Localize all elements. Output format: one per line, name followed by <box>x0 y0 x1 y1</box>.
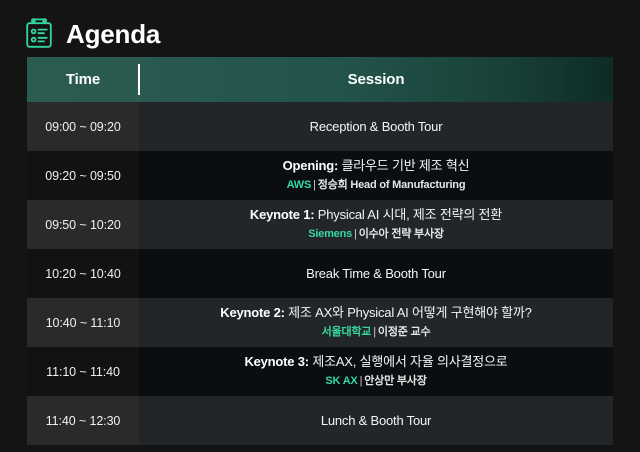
session-title: Lunch & Booth Tour <box>149 412 603 430</box>
agenda-table-container: Time Session 09:00 ~ 09:20Reception & Bo… <box>27 57 613 445</box>
cell-time: 09:00 ~ 09:20 <box>27 102 139 151</box>
session-title: Keynote 1: Physical AI 시대, 제조 전략의 전환 <box>149 206 603 224</box>
cell-session: Keynote 3: 제조AX, 실행에서 자율 의사결정으로SK AX|안상만… <box>139 347 613 396</box>
table-row[interactable]: 09:20 ~ 09:50Opening: 클라우드 기반 제조 혁신AWS|정… <box>27 151 613 200</box>
session-speaker-line: Siemens|이수아 전략 부사장 <box>149 226 603 243</box>
session-title: Break Time & Booth Tour <box>149 265 603 283</box>
table-row[interactable]: 10:40 ~ 11:10Keynote 2: 제조 AX와 Physical … <box>27 298 613 347</box>
session-speaker-line: 서울대학교|이정준 교수 <box>149 324 603 341</box>
session-title: Reception & Booth Tour <box>149 118 603 136</box>
session-speaker-line: SK AX|안상만 부사장 <box>149 373 603 390</box>
table-row[interactable]: 10:20 ~ 10:40Break Time & Booth Tour <box>27 249 613 298</box>
column-header-time: Time <box>27 57 139 102</box>
session-separator: | <box>313 179 316 191</box>
session-org: SK AX <box>325 375 357 387</box>
agenda-table-head: Time Session <box>27 57 613 102</box>
table-row[interactable]: 09:00 ~ 09:20Reception & Booth Tour <box>27 102 613 151</box>
header-column-divider <box>138 64 140 95</box>
session-speaker: 정승희 Head of Manufacturing <box>318 179 466 191</box>
session-title-text: Lunch & Booth Tour <box>321 413 431 428</box>
cell-session: Lunch & Booth Tour <box>139 396 613 445</box>
session-title-text: Reception & Booth Tour <box>310 119 443 134</box>
session-org: AWS <box>287 179 311 191</box>
session-title-lead: Keynote 2: <box>220 305 284 320</box>
session-org: 서울대학교 <box>322 326 372 338</box>
agenda-table: Time Session 09:00 ~ 09:20Reception & Bo… <box>27 57 613 445</box>
session-title: Keynote 2: 제조 AX와 Physical AI 어떻게 구현해야 할… <box>149 304 603 322</box>
cell-session: Reception & Booth Tour <box>139 102 613 151</box>
session-org: Siemens <box>308 228 352 240</box>
page-header: Agenda <box>0 0 640 57</box>
session-separator: | <box>373 326 376 338</box>
session-speaker: 이수아 전략 부사장 <box>359 228 444 240</box>
cell-time: 10:20 ~ 10:40 <box>27 249 139 298</box>
column-header-session: Session <box>139 57 613 102</box>
cell-time: 11:10 ~ 11:40 <box>27 347 139 396</box>
session-title-text: 클라우드 기반 제조 혁신 <box>338 158 469 173</box>
cell-session: Break Time & Booth Tour <box>139 249 613 298</box>
cell-time: 09:20 ~ 09:50 <box>27 151 139 200</box>
session-title-text: Physical AI 시대, 제조 전략의 전환 <box>314 207 502 222</box>
cell-time: 10:40 ~ 11:10 <box>27 298 139 347</box>
session-title: Opening: 클라우드 기반 제조 혁신 <box>149 157 603 175</box>
session-separator: | <box>360 375 363 387</box>
session-title-lead: Keynote 1: <box>250 207 314 222</box>
cell-session: Keynote 2: 제조 AX와 Physical AI 어떻게 구현해야 할… <box>139 298 613 347</box>
page-title: Agenda <box>66 21 160 47</box>
column-header-session-label: Session <box>348 71 405 88</box>
session-speaker: 이정준 교수 <box>378 326 430 338</box>
session-title: Keynote 3: 제조AX, 실행에서 자율 의사결정으로 <box>149 353 603 371</box>
session-separator: | <box>354 228 357 240</box>
column-header-time-label: Time <box>66 71 100 88</box>
session-title-text: 제조AX, 실행에서 자율 의사결정으로 <box>309 354 508 369</box>
table-row[interactable]: 11:40 ~ 12:30Lunch & Booth Tour <box>27 396 613 445</box>
table-row[interactable]: 09:50 ~ 10:20Keynote 1: Physical AI 시대, … <box>27 200 613 249</box>
session-speaker: 안상만 부사장 <box>364 375 426 387</box>
clipboard-checklist-icon <box>24 18 54 50</box>
session-title-lead: Keynote 3: <box>244 354 308 369</box>
table-row[interactable]: 11:10 ~ 11:40Keynote 3: 제조AX, 실행에서 자율 의사… <box>27 347 613 396</box>
cell-session: Opening: 클라우드 기반 제조 혁신AWS|정승희 Head of Ma… <box>139 151 613 200</box>
agenda-table-body: 09:00 ~ 09:20Reception & Booth Tour09:20… <box>27 102 613 445</box>
cell-session: Keynote 1: Physical AI 시대, 제조 전략의 전환Siem… <box>139 200 613 249</box>
table-header-row: Time Session <box>27 57 613 102</box>
session-speaker-line: AWS|정승희 Head of Manufacturing <box>149 177 603 194</box>
session-title-text: 제조 AX와 Physical AI 어떻게 구현해야 할까? <box>285 305 532 320</box>
session-title-text: Break Time & Booth Tour <box>306 266 446 281</box>
cell-time: 09:50 ~ 10:20 <box>27 200 139 249</box>
session-title-lead: Opening: <box>283 158 338 173</box>
cell-time: 11:40 ~ 12:30 <box>27 396 139 445</box>
